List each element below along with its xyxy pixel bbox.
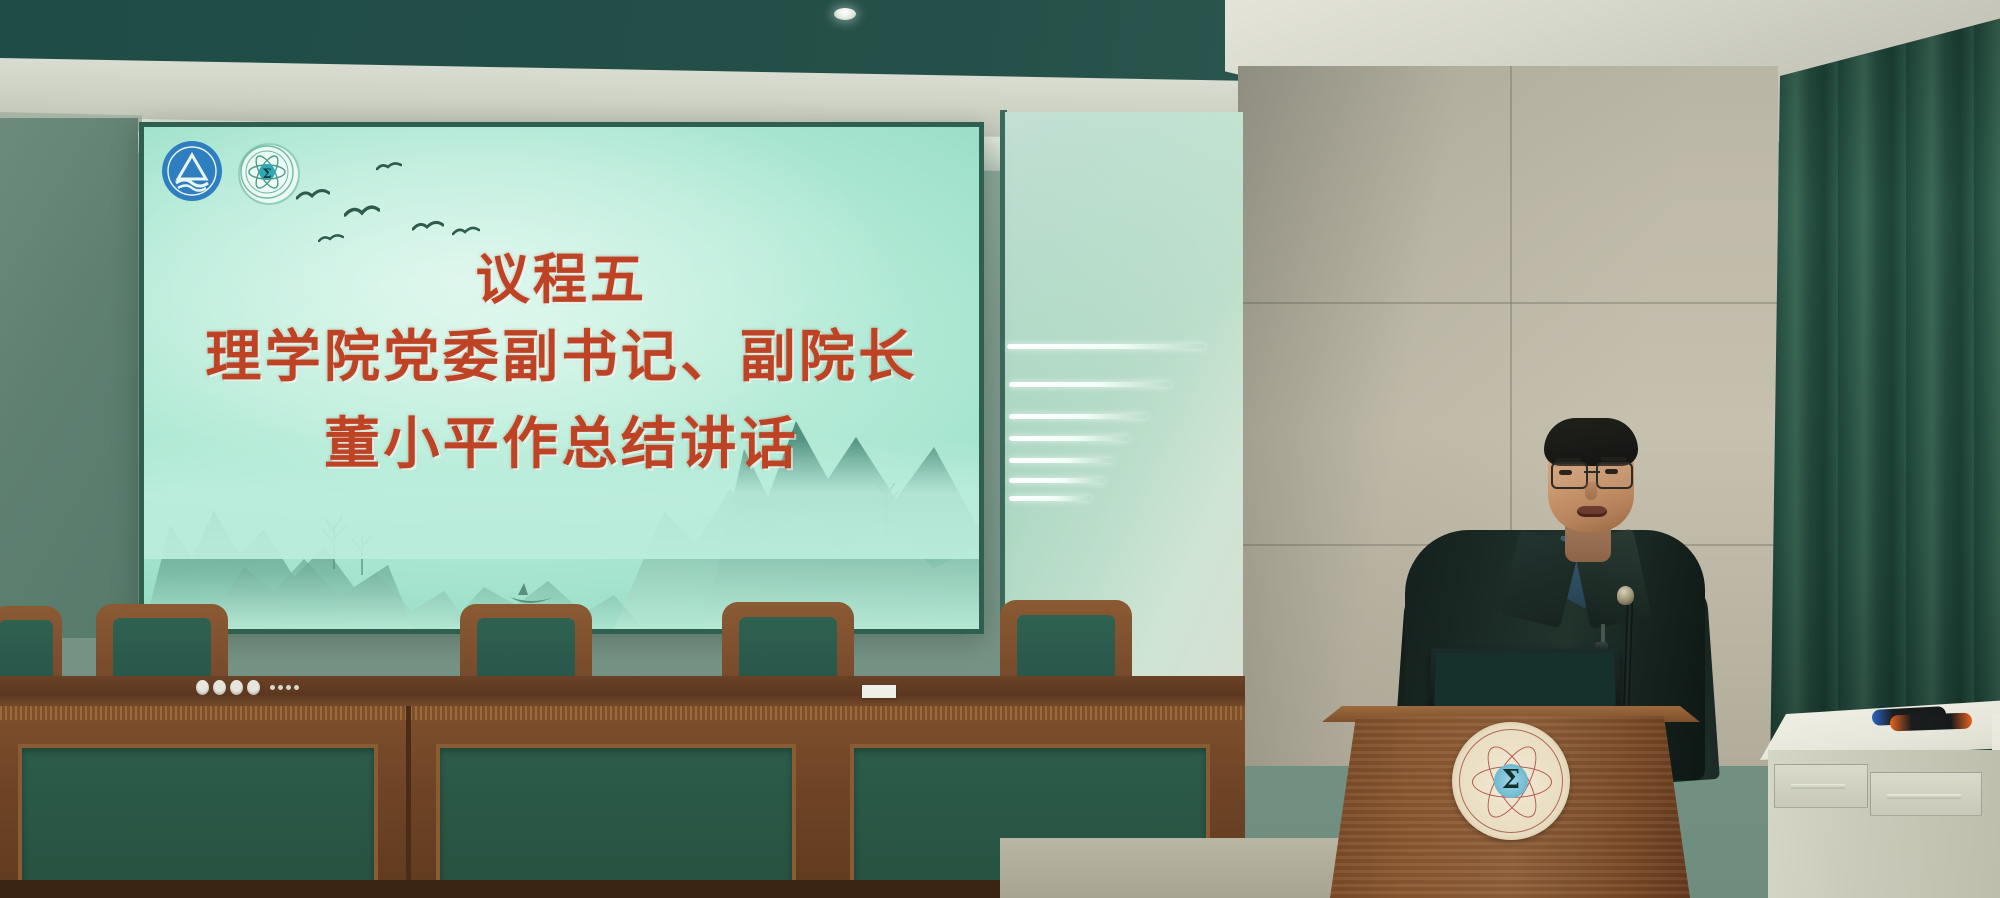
control-button[interactable] (230, 680, 243, 695)
status-led (270, 685, 275, 690)
podium-emblem: Σ (1452, 722, 1570, 840)
downlight-icon (834, 8, 856, 20)
table-inset-panel (436, 744, 796, 898)
table-control-panel[interactable] (196, 679, 302, 695)
table-inset-panel (18, 744, 378, 898)
handheld-microphone[interactable] (1890, 713, 1973, 732)
curtain-shading (1770, 18, 2000, 778)
lens-right (1596, 462, 1633, 489)
laptop-screen (1434, 652, 1616, 706)
lens-left (1551, 462, 1588, 489)
drawer-handle[interactable] (1886, 794, 1962, 799)
meeting-room-photo: Σ 议程五 理学院党委副书记、副院长 董小平作总结讲话 (0, 0, 2000, 898)
university-emblem-logo (162, 141, 222, 201)
light-reflection-strip (1007, 344, 1205, 349)
nose (1585, 482, 1597, 500)
table-joint-seam (406, 706, 411, 898)
bird-icon (376, 161, 402, 174)
light-reflection-strip (1009, 382, 1171, 387)
status-led (278, 685, 283, 690)
light-reflection-strip (1009, 478, 1105, 483)
control-button[interactable] (213, 680, 226, 695)
light-reflection-strip (1009, 436, 1129, 441)
table-surface (0, 676, 1245, 710)
eyebrow (1601, 457, 1627, 461)
eye-right (1605, 469, 1618, 474)
slide-line-2: 理学院党委副书记、副院长 (144, 312, 979, 393)
bird-icon (344, 203, 380, 220)
slide-line-1: 议程五 (144, 235, 979, 314)
projection-screen-frame: Σ 议程五 理学院党委副书记、副院长 董小平作总结讲话 (139, 122, 984, 634)
light-reflection-strip (1009, 458, 1113, 463)
light-reflection-strip (1009, 496, 1091, 501)
glasses-bridge (1584, 471, 1600, 473)
status-led (294, 685, 299, 690)
school-of-science-emblem-logo: Σ (238, 143, 300, 205)
control-button[interactable] (247, 680, 260, 695)
status-led (286, 685, 291, 690)
conference-chair (0, 606, 62, 686)
emblem-sigma-symbol: Σ (1502, 765, 1520, 795)
conference-chair (1000, 600, 1132, 688)
projection-screen: Σ 议程五 理学院党委副书记、副院长 董小平作总结讲话 (144, 127, 979, 629)
light-reflection-strip (1009, 414, 1147, 419)
left-wall-panel (0, 118, 138, 638)
control-button[interactable] (196, 680, 209, 695)
desk-body (1768, 750, 2000, 898)
bird-icon (412, 219, 444, 234)
mouth (1577, 506, 1607, 517)
name-card (862, 685, 896, 698)
side-control-desk (1760, 700, 2000, 898)
microphone-head-icon (1617, 586, 1634, 605)
bird-icon (296, 187, 330, 203)
eye-left (1559, 470, 1572, 475)
slide-line-3: 董小平作总结讲话 (144, 399, 979, 480)
drawer-handle[interactable] (1790, 784, 1846, 789)
svg-text:Σ: Σ (262, 167, 271, 182)
